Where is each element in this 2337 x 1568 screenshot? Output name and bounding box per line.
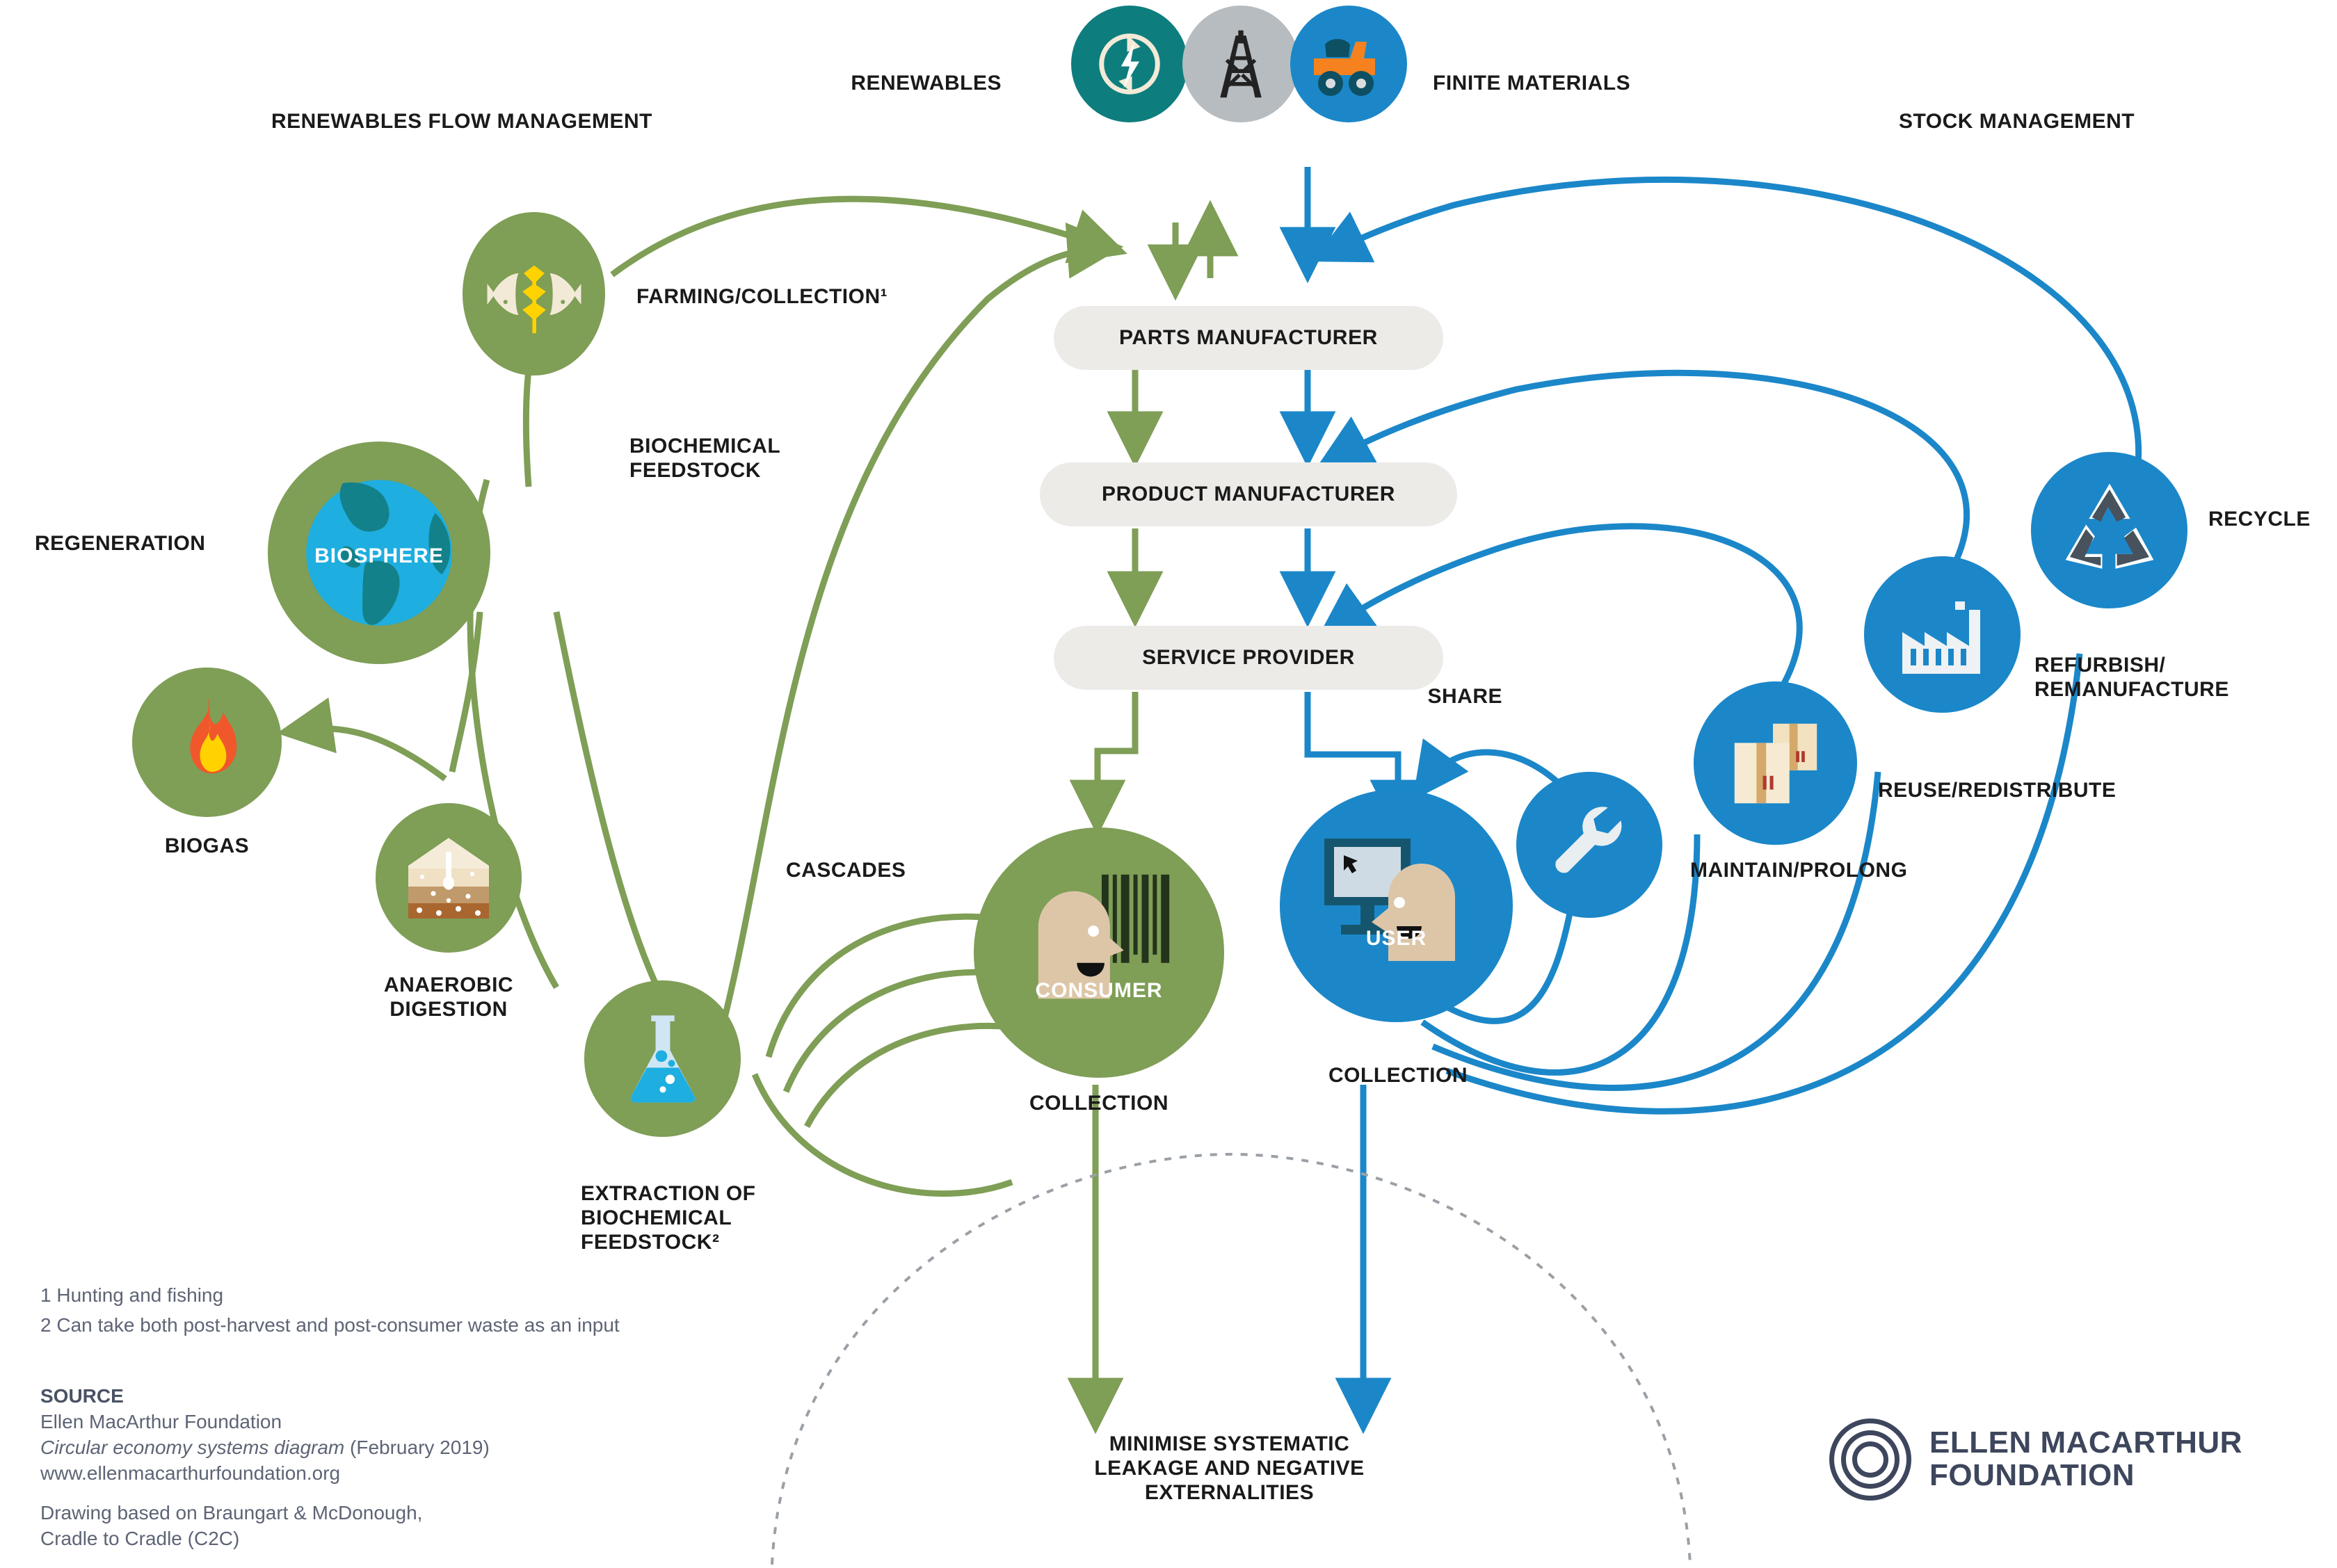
label-cascades: CASCADES (786, 859, 906, 883)
label-biochemical-feedstock: BIOCHEMICAL FEEDSTOCK (629, 435, 780, 483)
pill-service-provider[interactable]: SERVICE PROVIDER (1054, 626, 1443, 690)
node-share (1516, 772, 1662, 918)
flame-icon (132, 668, 282, 817)
source-block: SOURCE Ellen MacArthur Foundation Circul… (40, 1384, 805, 1552)
node-biosphere: BIOSPHERE (268, 442, 490, 664)
source-credit-line-1: Drawing based on Braungart & McDonough, (40, 1502, 422, 1523)
header-renewables-flow-management: RENEWABLES FLOW MANAGEMENT (271, 110, 652, 134)
label-minimise-leakage: MINIMISE SYSTEMATIC LEAKAGE AND NEGATIVE… (1050, 1432, 1408, 1505)
node-refurbish-remanufacture (1864, 556, 2021, 713)
label-refurbish-remanufacture: REFURBISH/ REMANUFACTURE (2034, 654, 2229, 702)
wrench-icon (1516, 772, 1662, 918)
header-stock-management: STOCK MANAGEMENT (1899, 110, 2135, 134)
consumer-head-barcode-icon (974, 804, 1224, 1078)
user-head-monitor-icon (1280, 770, 1513, 1022)
ellen-macarthur-foundation-logo: ELLEN MACARTHUR FOUNDATION (1829, 1419, 2242, 1501)
node-farming-collection (463, 212, 605, 375)
pill-product-manufacturer[interactable]: PRODUCT MANUFACTURER (1040, 462, 1457, 526)
label-collection-left: COLLECTION (988, 1092, 1210, 1116)
node-extraction-biochemical-feedstock (584, 980, 741, 1137)
logo-line-2: FOUNDATION (1929, 1458, 2135, 1492)
label-anaerobic-digestion: ANAEROBIC DIGESTION (334, 973, 563, 1022)
label-regeneration: REGENERATION (35, 532, 205, 556)
node-recycle (2031, 452, 2187, 608)
source-credit-line-2: Cradle to Cradle (C2C) (40, 1528, 239, 1549)
logo-line-1: ELLEN MACARTHUR (1929, 1425, 2242, 1460)
label-recycle: RECYCLE (2208, 508, 2311, 532)
factory-icon (1864, 556, 2021, 713)
label-reuse-redistribute: REUSE/REDISTRIBUTE (1878, 779, 2116, 803)
label-collection-right: COLLECTION (1283, 1064, 1513, 1088)
recycle-icon (2031, 452, 2187, 608)
renewable-energy-icon (1071, 6, 1188, 122)
label-maintain-prolong: MAINTAIN/PROLONG (1690, 859, 1907, 883)
source-heading: SOURCE (40, 1385, 124, 1407)
label-biogas: BIOGAS (129, 834, 285, 859)
footnote-1: 1 Hunting and fishing (40, 1283, 223, 1309)
source-doc-title: Circular economy systems diagram (40, 1437, 344, 1458)
source-org: Ellen MacArthur Foundation (40, 1411, 282, 1432)
pill-parts-manufacturer[interactable]: PARTS MANUFACTURER (1054, 306, 1443, 370)
node-user: USER (1280, 789, 1513, 1022)
node-reuse-redistribute (1694, 681, 1857, 845)
node-biogas (132, 668, 282, 817)
flask-icon (584, 980, 741, 1137)
label-share: SHARE (1363, 685, 1502, 709)
label-finite-materials: FINITE MATERIALS (1433, 72, 1781, 96)
fish-wheat-icon (463, 212, 605, 375)
oil-rig-icon (1182, 6, 1299, 122)
node-anaerobic-digestion (376, 803, 522, 953)
oil-rig-icon-node (1182, 6, 1299, 122)
diagram-canvas: RENEWABLES FLOW MANAGEMENT STOCK MANAGEM… (0, 0, 2337, 1568)
mining-truck-icon (1290, 6, 1407, 122)
node-consumer: CONSUMER (974, 827, 1224, 1078)
caption-user: USER (1280, 927, 1513, 951)
caption-consumer: CONSUMER (974, 979, 1224, 1003)
boxes-icon (1694, 681, 1857, 845)
caption-biosphere: BIOSPHERE (268, 544, 490, 568)
label-farming-collection: FARMING/COLLECTION¹ (636, 285, 888, 309)
logo-wordmark: ELLEN MACARTHUR FOUNDATION (1929, 1427, 2242, 1492)
label-renewables: RENEWABLES (709, 72, 1002, 96)
emf-rings-icon (1829, 1419, 1911, 1501)
digester-icon (376, 803, 522, 953)
footnote-2: 2 Can take both post-harvest and post-co… (40, 1313, 620, 1339)
source-doc-date: (February 2019) (344, 1437, 490, 1458)
renewables-icon-node (1071, 6, 1188, 122)
label-extraction-biochemical-feedstock: EXTRACTION OF BIOCHEMICAL FEEDSTOCK² (581, 1182, 756, 1254)
mining-truck-icon-node (1290, 6, 1407, 122)
source-url[interactable]: www.ellenmacarthurfoundation.org (40, 1462, 340, 1484)
